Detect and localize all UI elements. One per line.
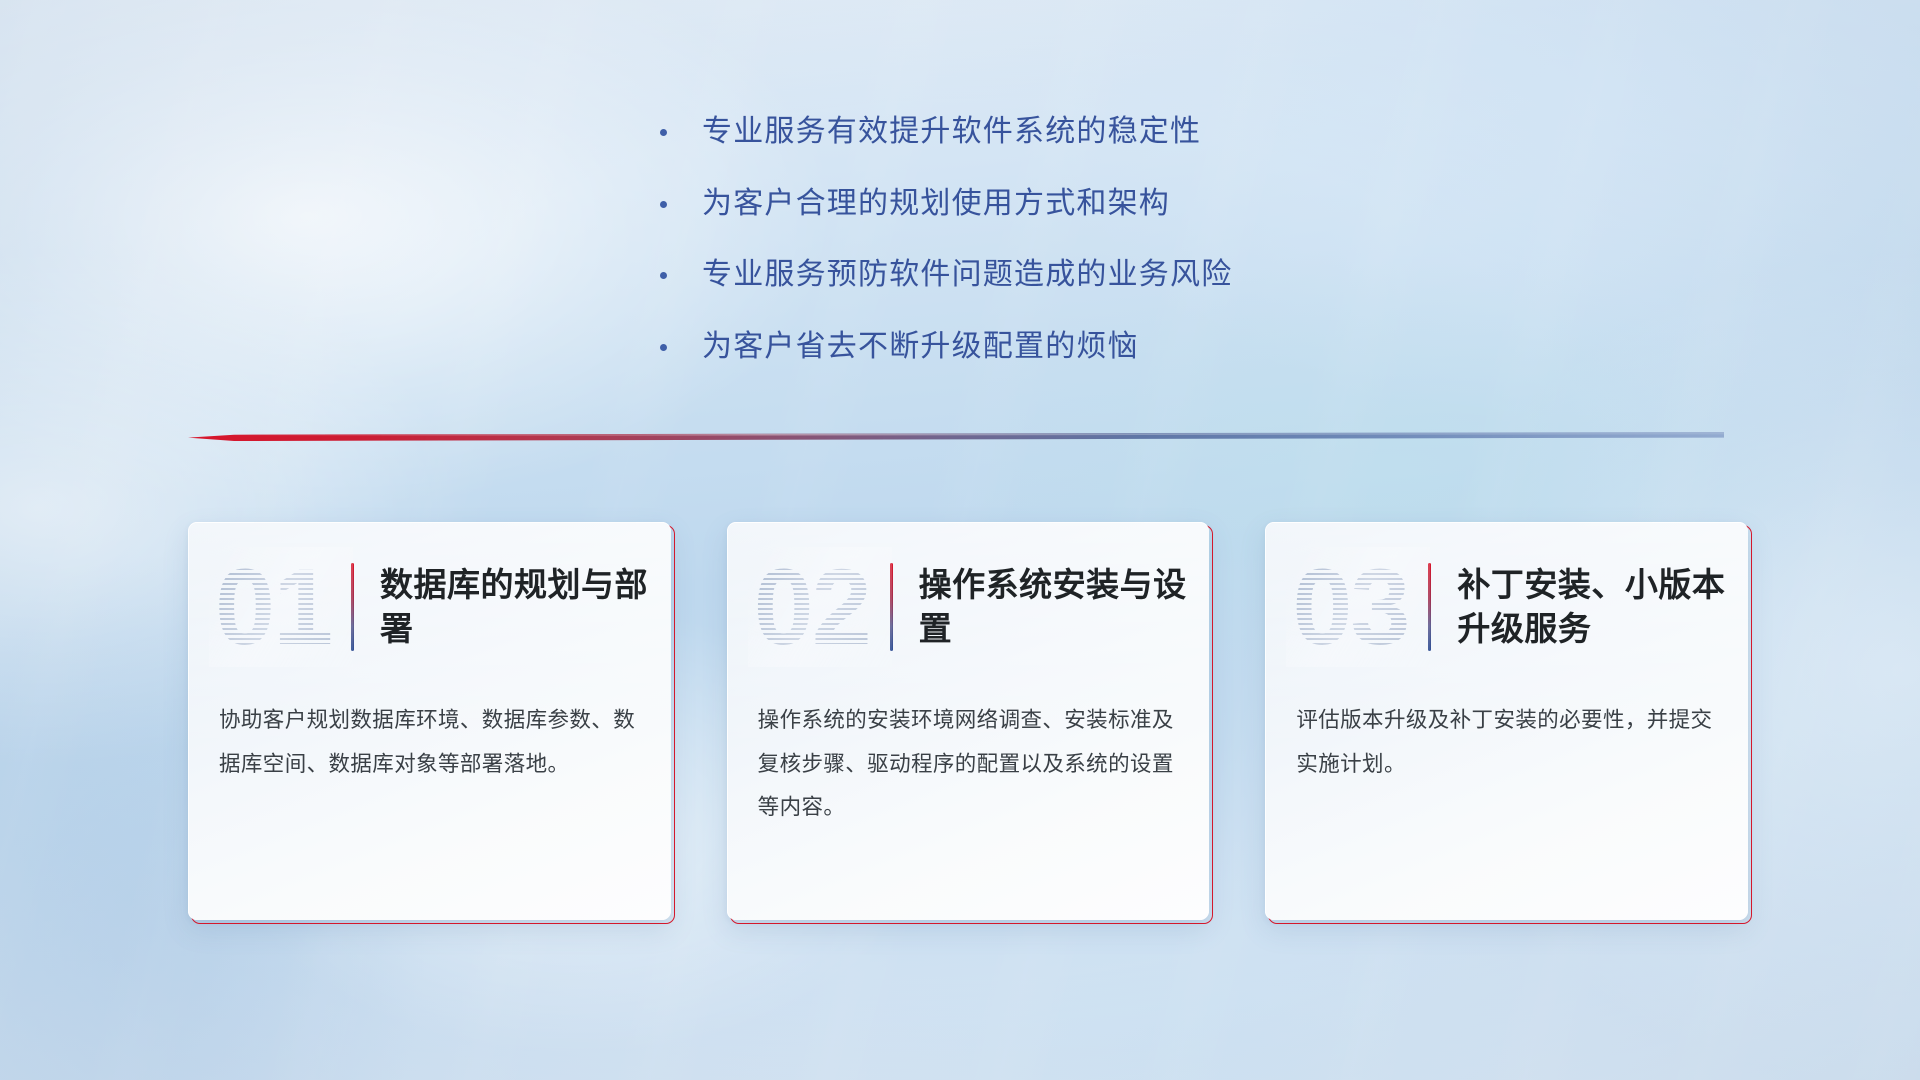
list-item: 专业服务预防软件问题造成的业务风险: [660, 255, 1420, 296]
service-card-01[interactable]: 01 数据库的规划与部署 协助客户规划数据库环境、数据库参数、数据库空间、数据库…: [188, 522, 671, 920]
service-card-02[interactable]: 02 操作系统安装与设置 操作系统的安装环境网络调查、安装标准及复核步骤、驱动程…: [727, 522, 1210, 920]
list-item: 专业服务有效提升软件系统的稳定性: [660, 112, 1420, 153]
service-card-row: 01 数据库的规划与部署 协助客户规划数据库环境、数据库参数、数据库空间、数据库…: [188, 522, 1748, 920]
card-header: 02 操作系统安装与设置: [728, 523, 1210, 691]
card-header: 01 数据库的规划与部署: [189, 523, 671, 691]
card-header: 03 补丁安装、小版本升级服务: [1266, 523, 1748, 691]
card-title: 数据库的规划与部署: [380, 563, 671, 651]
benefits-bullet-list: 专业服务有效提升软件系统的稳定性 为客户合理的规划使用方式和架构 专业服务预防软…: [660, 112, 1420, 398]
bullet-dot-icon: [660, 272, 667, 279]
card-description: 评估版本升级及补丁安装的必要性，并提交实施计划。: [1266, 699, 1748, 786]
card-title: 补丁安装、小版本升级服务: [1457, 563, 1748, 651]
bullet-text: 为客户合理的规划使用方式和架构: [702, 184, 1170, 225]
card-surface: 02 操作系统安装与设置 操作系统的安装环境网络调查、安装标准及复核步骤、驱动程…: [727, 522, 1210, 920]
card-number: 03: [1292, 553, 1424, 661]
slide-canvas: 专业服务有效提升软件系统的稳定性 为客户合理的规划使用方式和架构 专业服务预防软…: [0, 0, 1920, 1080]
card-divider-rule: [1428, 563, 1431, 651]
card-number: 01: [215, 553, 347, 661]
card-surface: 03 补丁安装、小版本升级服务 评估版本升级及补丁安装的必要性，并提交实施计划。: [1265, 522, 1748, 920]
bullet-dot-icon: [660, 129, 667, 136]
list-item: 为客户省去不断升级配置的烦恼: [660, 327, 1420, 368]
card-divider-rule: [890, 563, 893, 651]
bullet-dot-icon: [660, 344, 667, 351]
bullet-text: 专业服务预防软件问题造成的业务风险: [702, 255, 1232, 296]
card-title: 操作系统安装与设置: [919, 563, 1210, 651]
bullet-dot-icon: [660, 201, 667, 208]
card-divider-rule: [351, 563, 354, 651]
card-surface: 01 数据库的规划与部署 协助客户规划数据库环境、数据库参数、数据库空间、数据库…: [188, 522, 671, 920]
service-card-03[interactable]: 03 补丁安装、小版本升级服务 评估版本升级及补丁安装的必要性，并提交实施计划。: [1265, 522, 1748, 920]
card-description: 操作系统的安装环境网络调查、安装标准及复核步骤、驱动程序的配置以及系统的设置等内…: [728, 699, 1210, 830]
card-description: 协助客户规划数据库环境、数据库参数、数据库空间、数据库对象等部署落地。: [189, 699, 671, 786]
list-item: 为客户合理的规划使用方式和架构: [660, 184, 1420, 225]
bullet-text: 专业服务有效提升软件系统的稳定性: [702, 112, 1201, 153]
card-number: 02: [754, 553, 886, 661]
bullet-text: 为客户省去不断升级配置的烦恼: [702, 327, 1139, 368]
